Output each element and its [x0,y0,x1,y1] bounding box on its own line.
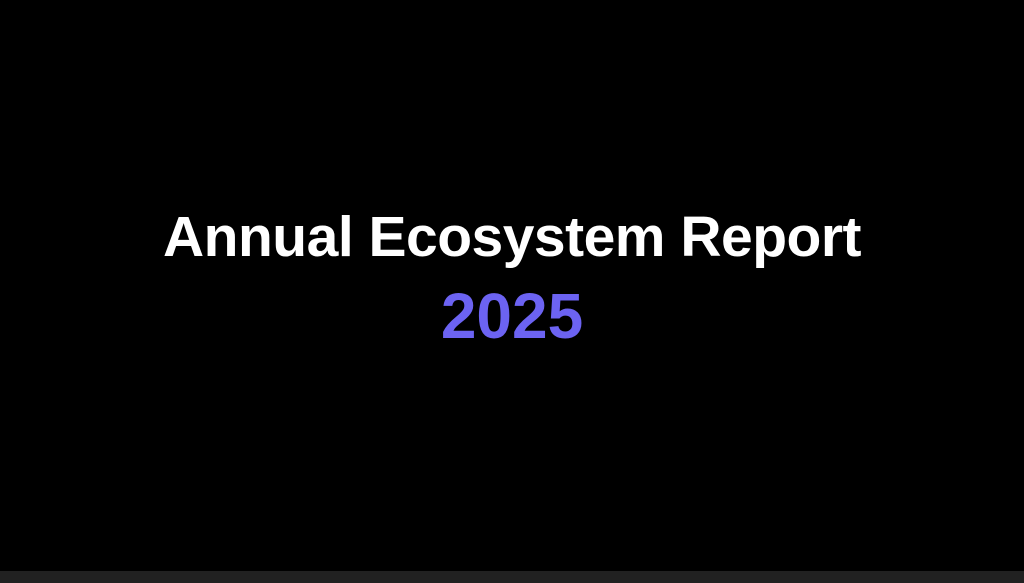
slide-content-area: Annual Ecosystem Report 2025 [0,0,1024,571]
presentation-slide: Annual Ecosystem Report 2025 [0,0,1024,583]
report-year: 2025 [441,284,583,348]
title-block: Annual Ecosystem Report 2025 [0,209,1024,348]
page-title: Annual Ecosystem Report [163,209,861,266]
bottom-bar [0,571,1024,583]
